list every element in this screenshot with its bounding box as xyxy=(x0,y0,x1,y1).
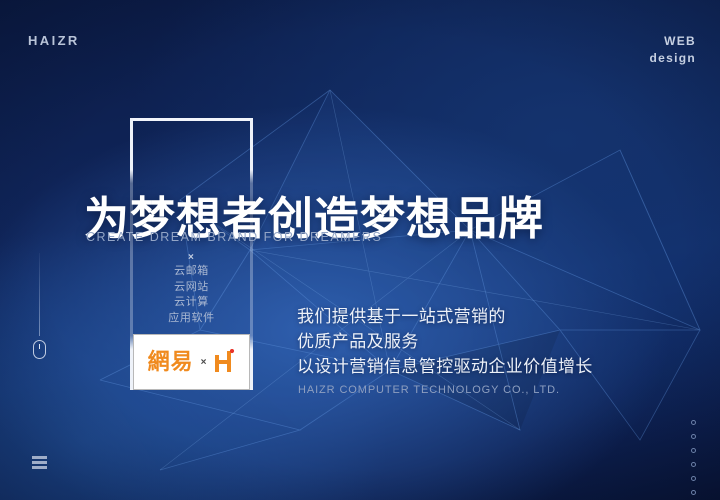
service-item-cloud-mail[interactable]: 云邮箱 xyxy=(130,264,253,280)
hamburger-bar-1 xyxy=(32,456,47,459)
partner-logo-card[interactable]: 網易 × xyxy=(133,334,250,390)
description-line-1: 我们提供基于一站式营销的 xyxy=(297,304,593,329)
company-name: HAIZR COMPUTER TECHNOLOGY CO., LTD. xyxy=(298,384,560,396)
description-line-2: 优质产品及服务 xyxy=(297,329,593,354)
pagination-dot-1[interactable] xyxy=(691,420,696,425)
cross-separator-icon: × xyxy=(188,252,194,263)
netease-logo-text: 網易 xyxy=(148,351,194,373)
hero-subheadline: CREATE DREAM BRAND FOR DREAMERS xyxy=(86,230,382,244)
haizr-h-mark-icon xyxy=(213,349,235,375)
background-vignette xyxy=(0,0,720,500)
scroll-indicator-line xyxy=(39,253,40,336)
service-item-applications[interactable]: 应用软件 xyxy=(130,311,253,327)
pagination-dot-3[interactable] xyxy=(691,448,696,453)
service-item-cloud-website[interactable]: 云网站 xyxy=(130,280,253,296)
hero-banner: HAIZR WEB design 为梦想者创造梦想品牌 CREATE DREAM… xyxy=(0,0,720,500)
hero-description: 我们提供基于一站式营销的 优质产品及服务 以设计营销信息管控驱动企业价值增长 xyxy=(297,304,593,379)
pagination-dot-4[interactable] xyxy=(691,462,696,467)
description-line-3: 以设计营销信息管控驱动企业价值增长 xyxy=(297,354,593,379)
partnership-cross-icon: × xyxy=(201,357,207,368)
site-logo-haizr[interactable]: HAIZR xyxy=(28,33,80,48)
hamburger-menu-icon[interactable] xyxy=(32,456,47,469)
service-list: 云邮箱 云网站 云计算 应用软件 xyxy=(130,264,253,326)
hamburger-bar-2 xyxy=(32,461,47,464)
pagination-dot-6[interactable] xyxy=(691,490,696,495)
frame-top-rail xyxy=(130,118,253,121)
tagline-web-design: WEB design xyxy=(650,33,696,67)
scroll-mouse-icon[interactable] xyxy=(33,340,46,359)
hamburger-bar-3 xyxy=(32,466,47,469)
tagline-line-2: design xyxy=(650,50,696,67)
tagline-line-1: WEB xyxy=(650,33,696,50)
frame-right-rail xyxy=(250,118,253,390)
pagination-dot-2[interactable] xyxy=(691,434,696,439)
service-item-cloud-computing[interactable]: 云计算 xyxy=(130,295,253,311)
pagination-dots xyxy=(691,420,696,495)
pagination-dot-5[interactable] xyxy=(691,476,696,481)
